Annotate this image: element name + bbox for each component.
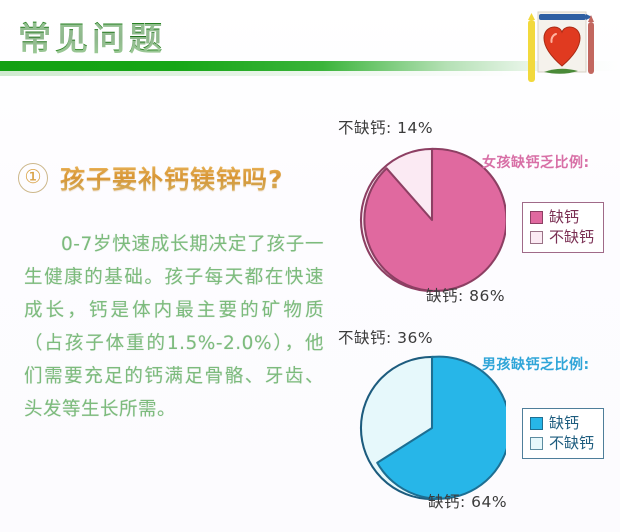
legend-item-no-deficiency-girls: 不缺钙 (530, 227, 594, 247)
header-divider-shadow (0, 71, 520, 76)
pie-label-deficiency-boys: 缺钙: 64% (428, 490, 507, 512)
legend-label: 不缺钙 (549, 227, 594, 247)
pie-label-deficiency-girls: 缺钙: 86% (426, 284, 505, 306)
pie-caption-boys: 男孩缺钙乏比例: (482, 354, 590, 374)
question-number-badge: ① (18, 163, 48, 193)
pie-label-no-deficiency-boys: 不缺钙: 36% (338, 326, 433, 348)
pie-legend-boys: 缺钙 不缺钙 (522, 408, 604, 459)
legend-swatch-light-blue-icon (530, 437, 543, 450)
legend-swatch-blue-icon (530, 417, 543, 430)
question-heading: ① 孩子要补钙镁锌吗? (18, 160, 284, 196)
page-header: 常见问题 (0, 0, 620, 80)
legend-label: 缺钙 (549, 207, 579, 227)
question-title: 孩子要补钙镁锌吗? (60, 160, 284, 196)
legend-item-deficiency-boys: 缺钙 (530, 413, 594, 433)
pie-label-no-deficiency-girls: 不缺钙: 14% (338, 116, 433, 138)
legend-swatch-light-pink-icon (530, 231, 543, 244)
legend-label: 不缺钙 (549, 433, 594, 453)
pie-chart-girls: 不缺钙: 14% 女孩缺钙乏比例: 缺钙 不缺钙 缺钙: 86% (330, 110, 620, 315)
question-body-text: 0-7岁快速成长期决定了孩子一生健康的基础。孩子每天都在快速成长，钙是体内最主要… (24, 228, 324, 426)
legend-item-deficiency-girls: 缺钙 (530, 207, 594, 227)
crayon-heart-icon (516, 4, 602, 86)
pie-chart-boys: 不缺钙: 36% 男孩缺钙乏比例: 缺钙 不缺钙 缺钙: 64% (330, 322, 620, 522)
legend-label: 缺钙 (549, 413, 579, 433)
legend-item-no-deficiency-boys: 不缺钙 (530, 433, 594, 453)
legend-swatch-pink-icon (530, 211, 543, 224)
pie-graphic-boys (358, 354, 506, 502)
pie-caption-girls: 女孩缺钙乏比例: (482, 152, 590, 172)
pie-legend-girls: 缺钙 不缺钙 (522, 202, 604, 253)
page-title: 常见问题 (18, 12, 166, 60)
page-root: 常见问题 ① (0, 0, 620, 532)
